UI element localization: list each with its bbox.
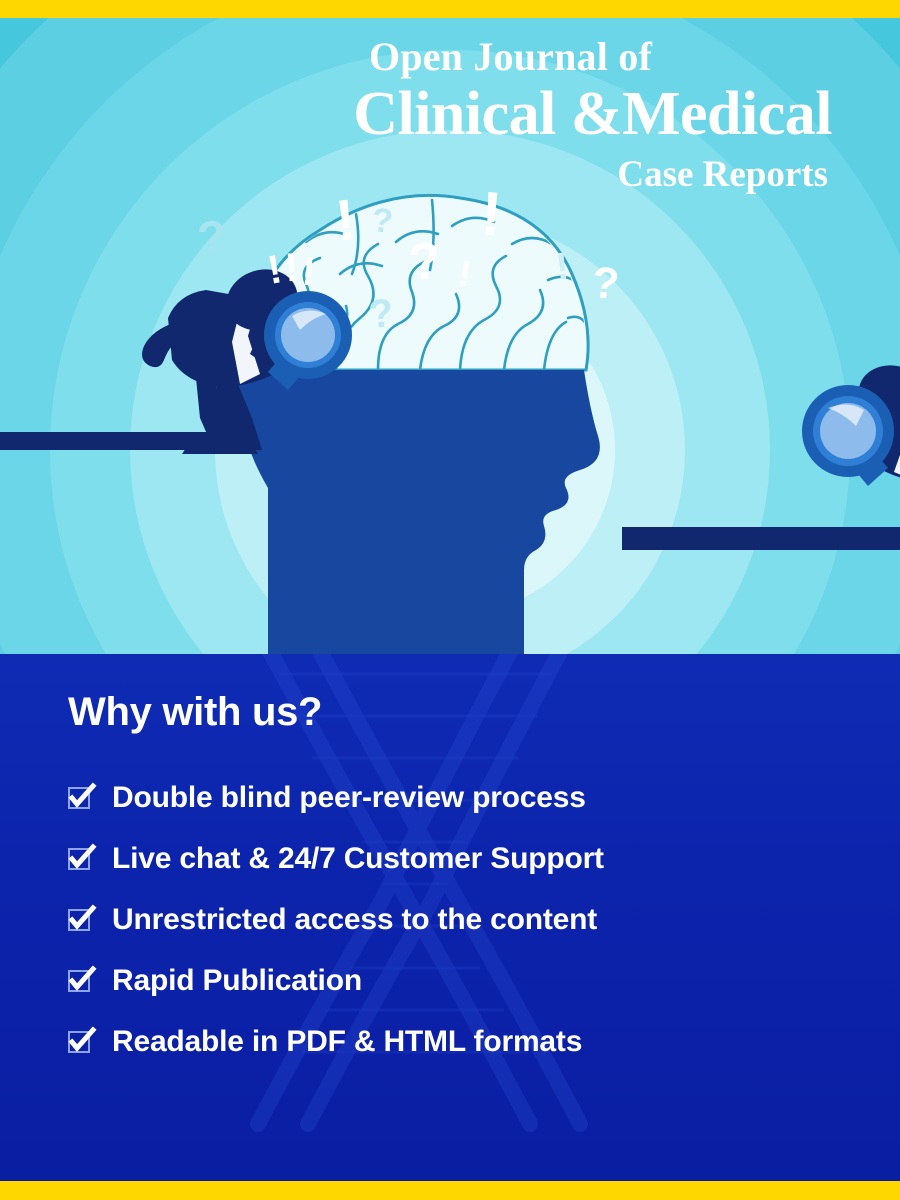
question-mark-icon: ? <box>407 235 443 290</box>
journal-title-line-1: Open Journal of <box>0 36 832 78</box>
journal-title-block: Open Journal of Clinical &Medical Case R… <box>0 36 900 196</box>
left-investigator-figure <box>142 260 352 454</box>
benefit-item: Live chat & 24/7 Customer Support <box>68 842 840 876</box>
checkmark-icon <box>68 787 90 809</box>
question-mark-icon: ? <box>367 293 395 335</box>
bottom-accent-bar <box>0 1181 900 1200</box>
poster: ?!!!!??!!?!? <box>0 0 900 1200</box>
benefit-item-label: Double blind peer-review process <box>112 781 586 815</box>
checkmark-icon <box>68 848 90 870</box>
benefit-item: Double blind peer-review process <box>68 781 840 815</box>
question-mark-icon: ? <box>370 203 394 239</box>
benefits-panel-title: Why with us? <box>68 690 840 735</box>
benefits-panel: Why with us? Double blind peer-review pr… <box>0 654 900 1181</box>
checkmark-icon <box>68 970 90 992</box>
benefit-item-label: Rapid Publication <box>112 964 362 998</box>
right-magnifier-lens <box>802 385 894 477</box>
benefits-panel-content: Why with us? Double blind peer-review pr… <box>0 654 900 1059</box>
benefits-list: Double blind peer-review processLive cha… <box>68 781 840 1059</box>
benefit-item-label: Unrestricted access to the content <box>112 903 597 937</box>
benefit-item: Rapid Publication <box>68 964 840 998</box>
journal-title-line-3: Case Reports <box>0 155 832 196</box>
benefit-item: Readable in PDF & HTML formats <box>68 1025 840 1059</box>
checkmark-icon <box>68 1031 90 1053</box>
right-investigator-figure <box>802 356 900 550</box>
checkmark-icon <box>68 909 90 931</box>
benefit-item-label: Live chat & 24/7 Customer Support <box>112 842 604 876</box>
benefit-item-label: Readable in PDF & HTML formats <box>112 1025 582 1059</box>
top-accent-bar <box>0 0 900 18</box>
question-mark-icon: ? <box>590 261 621 308</box>
journal-title-line-2: Clinical &Medical <box>0 82 832 147</box>
exclamation-mark-icon: ! <box>301 252 317 293</box>
hero-illustration-section: ?!!!!??!!?!? <box>0 18 900 654</box>
exclamation-mark-icon: ! <box>284 248 300 289</box>
benefit-item: Unrestricted access to the content <box>68 903 840 937</box>
left-magnifier-lens <box>264 291 352 379</box>
